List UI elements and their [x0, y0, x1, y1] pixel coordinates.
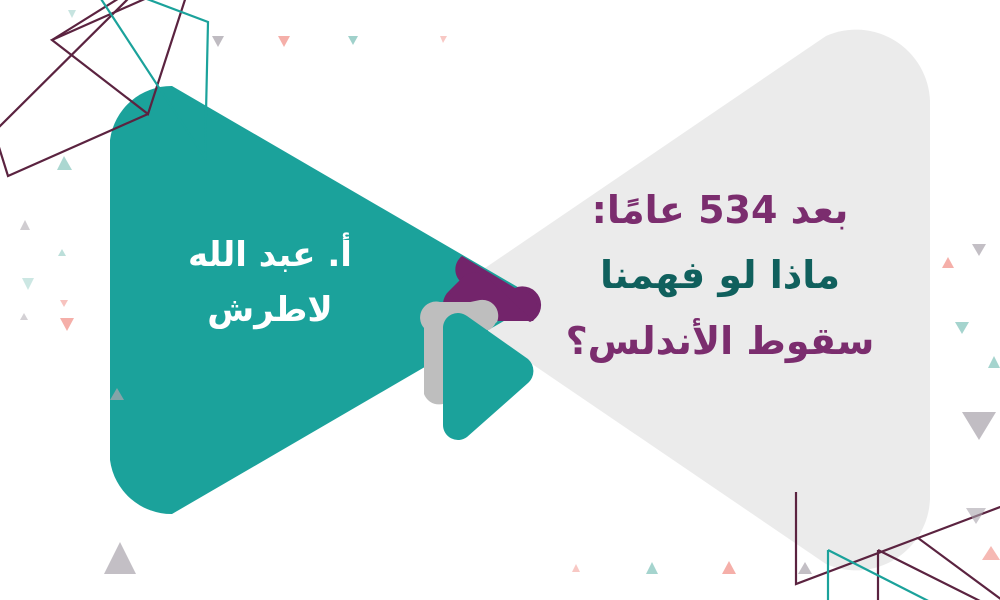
shapes-layer	[0, 0, 1000, 600]
slide-canvas: أ. عبد الله لاطرش بعد 534 عامًا: ماذا لو…	[0, 0, 1000, 600]
